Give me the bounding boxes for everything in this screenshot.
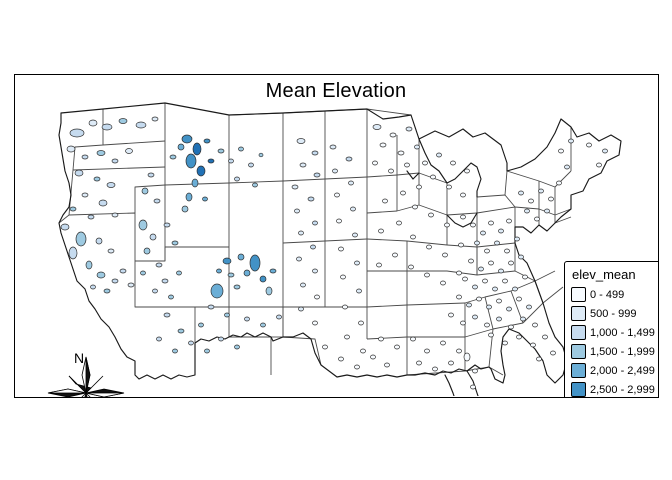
legend-label: 1,000 - 1,499 <box>590 327 655 339</box>
legend-row[interactable]: 1,500 - 1,999 <box>571 342 659 361</box>
legend-swatch <box>571 287 586 302</box>
legend-label: 0 - 499 <box>590 289 624 301</box>
legend-label: 1,500 - 1,999 <box>590 346 655 358</box>
north-arrow-label: N <box>74 351 84 365</box>
compass-rose-icon <box>43 353 129 398</box>
legend-swatch <box>571 325 586 340</box>
legend-row[interactable]: 500 - 999 <box>571 304 659 323</box>
legend-swatch <box>571 344 586 359</box>
legend-row[interactable]: 2,000 - 2,499 <box>571 361 659 380</box>
map-legend[interactable]: elev_mean 0 - 499500 - 9991,000 - 1,4991… <box>564 261 659 398</box>
state-boundaries <box>59 103 571 375</box>
north-arrow: N <box>43 353 129 398</box>
map-page: elev_mean 0 - 499500 - 9991,000 - 1,4991… <box>0 0 672 480</box>
legend-label: 2,000 - 2,499 <box>590 365 655 377</box>
legend-entries: 0 - 499500 - 9991,000 - 1,4991,500 - 1,9… <box>571 285 659 398</box>
legend-swatch <box>571 382 586 397</box>
legend-label: 2,500 - 2,999 <box>590 384 655 396</box>
elevation-polygons[interactable] <box>61 117 608 396</box>
legend-row[interactable]: 0 - 499 <box>571 285 659 304</box>
legend-label: 500 - 999 <box>590 308 636 320</box>
legend-title: elev_mean <box>572 267 659 282</box>
legend-swatch <box>571 306 586 321</box>
map-frame: elev_mean 0 - 499500 - 9991,000 - 1,4991… <box>14 74 659 398</box>
legend-swatch <box>571 363 586 378</box>
choropleth-map[interactable] <box>15 75 658 396</box>
legend-row[interactable]: 2,500 - 2,999 <box>571 380 659 398</box>
legend-row[interactable]: 1,000 - 1,499 <box>571 323 659 342</box>
